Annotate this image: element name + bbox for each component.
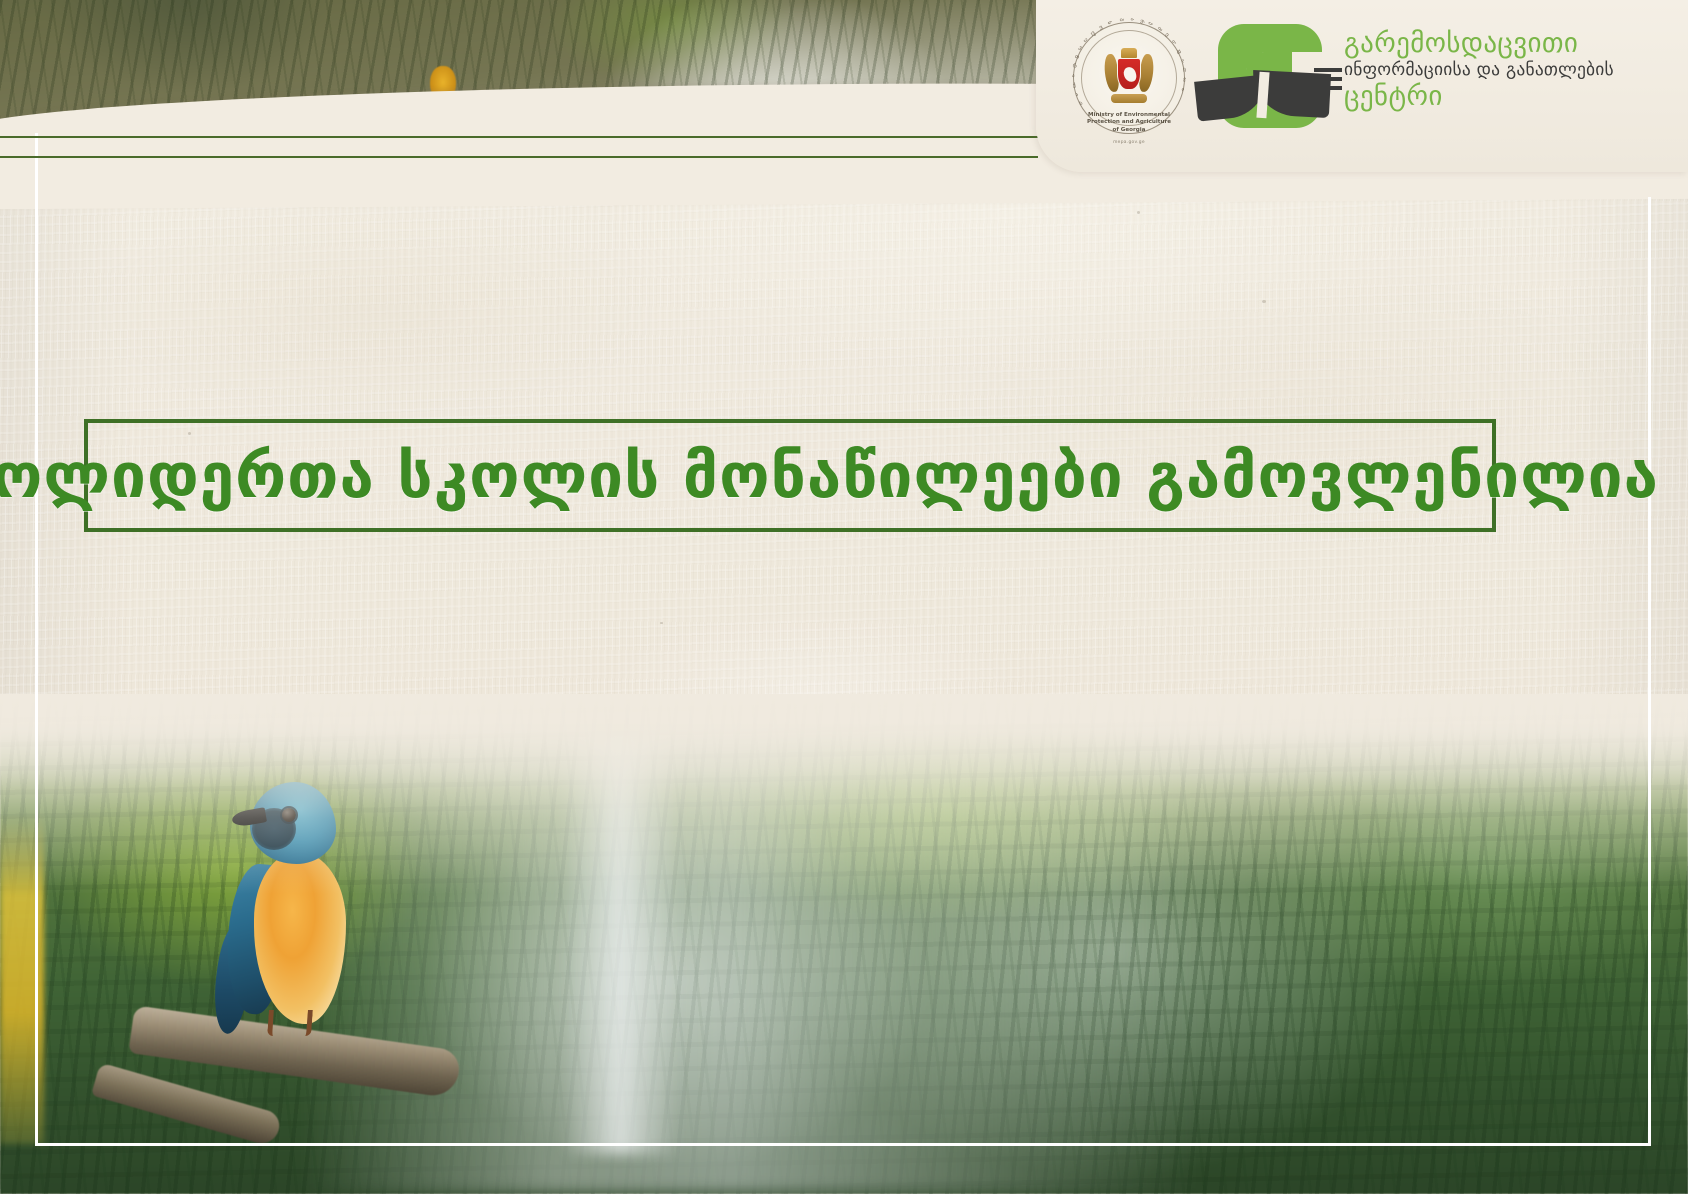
eiec-mark-bars-icon xyxy=(1314,68,1342,90)
inner-frame-left-border xyxy=(35,133,38,1146)
crest-scroll xyxy=(1111,94,1147,103)
eiec-wordmark-line-1: გარემოსდაცვითი xyxy=(1344,28,1650,59)
crest-shield xyxy=(1117,58,1141,90)
page-title: ეკოლიდერთა სკოლის მონაწილეები გამოვლენილ… xyxy=(0,442,1659,510)
seal-url-text: mepa.gov.ge xyxy=(1078,140,1180,145)
seal-en-line-1: Ministry of Environmental xyxy=(1078,112,1180,119)
bottom-banner-photo xyxy=(0,694,1688,1194)
bottom-banner-feathered-edge xyxy=(0,694,1688,894)
eiec-logo: გარემოსდაცვითი ინფორმაციისა და განათლები… xyxy=(1218,22,1650,150)
seal-en-line-2: Protection and Agriculture xyxy=(1078,119,1180,126)
crest-saint-george-rider xyxy=(1123,66,1138,83)
seal-english-text: Ministry of Environmental Protection and… xyxy=(1078,112,1180,134)
eiec-logo-wordmark: გარემოსდაცვითი ინფორმაციისა და განათლები… xyxy=(1344,28,1650,112)
header-rule-lower xyxy=(0,156,1038,158)
poster-canvas: ს ა ქ ა რ თ ვ ე ლ ო ს გ ა რ ე მ ო ს დ ა xyxy=(0,0,1688,1194)
ministry-seal-icon: ს ა ქ ა რ თ ვ ე ლ ო ს გ ა რ ე მ ო ს დ ა xyxy=(1070,14,1188,158)
headline-frame: ეკოლიდერთა სკოლის მონაწილეები გამოვლენილ… xyxy=(84,419,1496,532)
seal-en-line-3: of Georgia xyxy=(1078,127,1180,134)
eiec-wordmark-line-3: ცენტრი xyxy=(1344,81,1650,112)
paper-speck xyxy=(660,622,663,624)
bird-legs xyxy=(267,1010,313,1036)
eiec-mark-bar xyxy=(1314,68,1342,72)
georgia-coat-of-arms xyxy=(1105,48,1153,106)
inner-frame-right-border xyxy=(1648,197,1651,1146)
eiec-mark-bar xyxy=(1314,77,1342,81)
paper-speck xyxy=(1137,211,1140,214)
header-rule-upper xyxy=(0,136,1038,138)
paper-speck xyxy=(1262,300,1266,303)
eiec-wordmark-line-2: ინფორმაციისა და განათლების xyxy=(1344,59,1650,81)
inner-frame-bottom-border xyxy=(35,1143,1651,1146)
logo-panel: ს ა ქ ა რ თ ვ ე ლ ო ს გ ა რ ე მ ო ს დ ა xyxy=(1036,0,1688,172)
crest-crown xyxy=(1121,48,1137,58)
eiec-mark-bar xyxy=(1314,86,1342,90)
eiec-logo-mark-icon xyxy=(1218,24,1326,132)
